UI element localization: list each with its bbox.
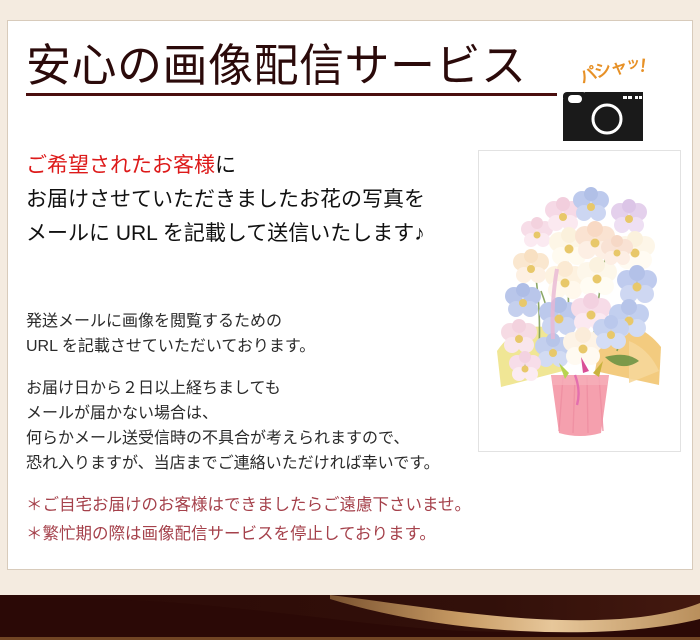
lead-line-2: お届けさせていただきましたお花の写真を	[26, 183, 456, 217]
detail-line-1: お届け日から２日以上経ちましても	[26, 376, 496, 401]
lead-line-1: ご希望されたお客様に	[26, 149, 456, 183]
lead-rest-1: に	[215, 154, 236, 177]
detail-line-4: 恐れ入りますが、当店までご連絡いただければ幸いです。	[26, 451, 496, 476]
lead-line-3: メールに URL を記載して送信いたします♪	[26, 217, 456, 251]
footer-decorative-band	[0, 585, 700, 640]
note-line-1: 発送メールに画像を閲覧するための	[26, 309, 446, 334]
detail-line-3: 何らかメール送受信時の不具合が考えられますので、	[26, 426, 496, 451]
title-block: 安心の画像配信サービス	[26, 41, 566, 96]
page-title: 安心の画像配信サービス	[26, 41, 566, 91]
footnote-block: ＊ご自宅お届けのお客様はできましたらご遠慮下さいませ。 ＊繁忙期の際は画像配信サ…	[26, 491, 506, 549]
note-paragraph: 発送メールに画像を閲覧するための URL を記載させていただいております。	[26, 309, 446, 359]
note-line-2: URL を記載させていただいております。	[26, 334, 446, 359]
content-panel: 安心の画像配信サービス パ シ ャ ッ ！	[7, 20, 693, 570]
camera-illustration-group: パ シ ャ ッ ！	[561, 49, 681, 144]
image-delivery-service-banner: 安心の画像配信サービス パ シ ャ ッ ！	[0, 0, 700, 640]
camera-icon	[561, 89, 645, 144]
footnote-line-1: ＊ご自宅お届けのお客様はできましたらご遠慮下さいませ。	[26, 491, 506, 520]
detail-line-2: メールが届かない場合は、	[26, 401, 496, 426]
detail-paragraph: お届け日から２日以上経ちましても メールが届かない場合は、 何らかメール送受信時…	[26, 376, 496, 476]
shutter-char-5: ！	[638, 51, 658, 78]
title-underline-rule	[26, 93, 557, 96]
footnote-line-2: ＊繁忙期の際は画像配信サービスを停止しております。	[26, 520, 506, 549]
lead-paragraph: ご希望されたお客様に お届けさせていただきましたお花の写真を メールに URL …	[26, 149, 456, 251]
shutter-sound-text: パ シ ャ ッ ！	[579, 49, 679, 89]
lead-highlight: ご希望されたお客様	[26, 154, 215, 177]
orchid-arrangement-photo	[478, 150, 681, 452]
